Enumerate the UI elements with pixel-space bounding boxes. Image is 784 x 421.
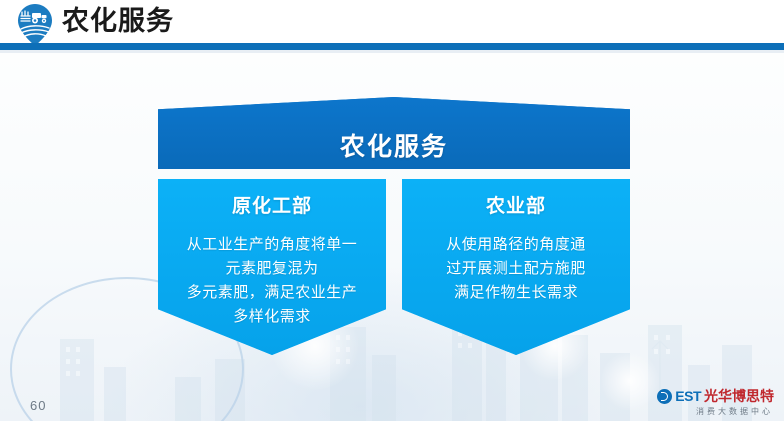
best-circle-logo-icon <box>657 389 672 404</box>
brand-subtitle: 消费大数据中心 <box>646 406 774 417</box>
page-number: 60 <box>30 398 46 413</box>
diagram-boxes: 原化工部 从工业生产的角度将单一元素肥复混为多元素肥，满足农业生产多样化需求 农… <box>158 179 630 355</box>
box-title: 原化工部 <box>170 195 374 219</box>
box-body-text: 从工业生产的角度将单一元素肥复混为多元素肥，满足农业生产多样化需求 <box>170 233 374 329</box>
farm-location-pin-icon <box>13 3 57 47</box>
slide: 农化服务 <box>0 0 784 421</box>
brand-logo-row: EST 光华博思特 <box>646 388 774 405</box>
box-title: 农业部 <box>414 195 618 219</box>
header-divider-rule <box>0 43 784 50</box>
diagram-box-chemical-division[interactable]: 原化工部 从工业生产的角度将单一元素肥复混为多元素肥，满足农业生产多样化需求 <box>158 179 386 355</box>
page-title: 农化服务 <box>62 4 174 38</box>
slide-header: 农化服务 <box>0 0 784 44</box>
brand-chinese-text: 光华博思特 <box>704 389 774 404</box>
agrochemical-service-diagram: 农化服务 原化工部 从工业生产的角度将单一元素肥复混为多元素肥，满足农业生产多样… <box>158 97 630 397</box>
brand-latin-text: EST <box>675 389 701 404</box>
brand-logo: EST 光华博思特 消费大数据中心 <box>646 388 774 417</box>
slide-body: 农化服务 原化工部 从工业生产的角度将单一元素肥复混为多元素肥，满足农业生产多样… <box>0 53 784 421</box>
diagram-box-agriculture-division[interactable]: 农业部 从使用路径的角度通过开展测土配方施肥满足作物生长需求 <box>402 179 630 355</box>
box-body-text: 从使用路径的角度通过开展测土配方施肥满足作物生长需求 <box>414 233 618 305</box>
diagram-banner-label: 农化服务 <box>158 127 630 163</box>
